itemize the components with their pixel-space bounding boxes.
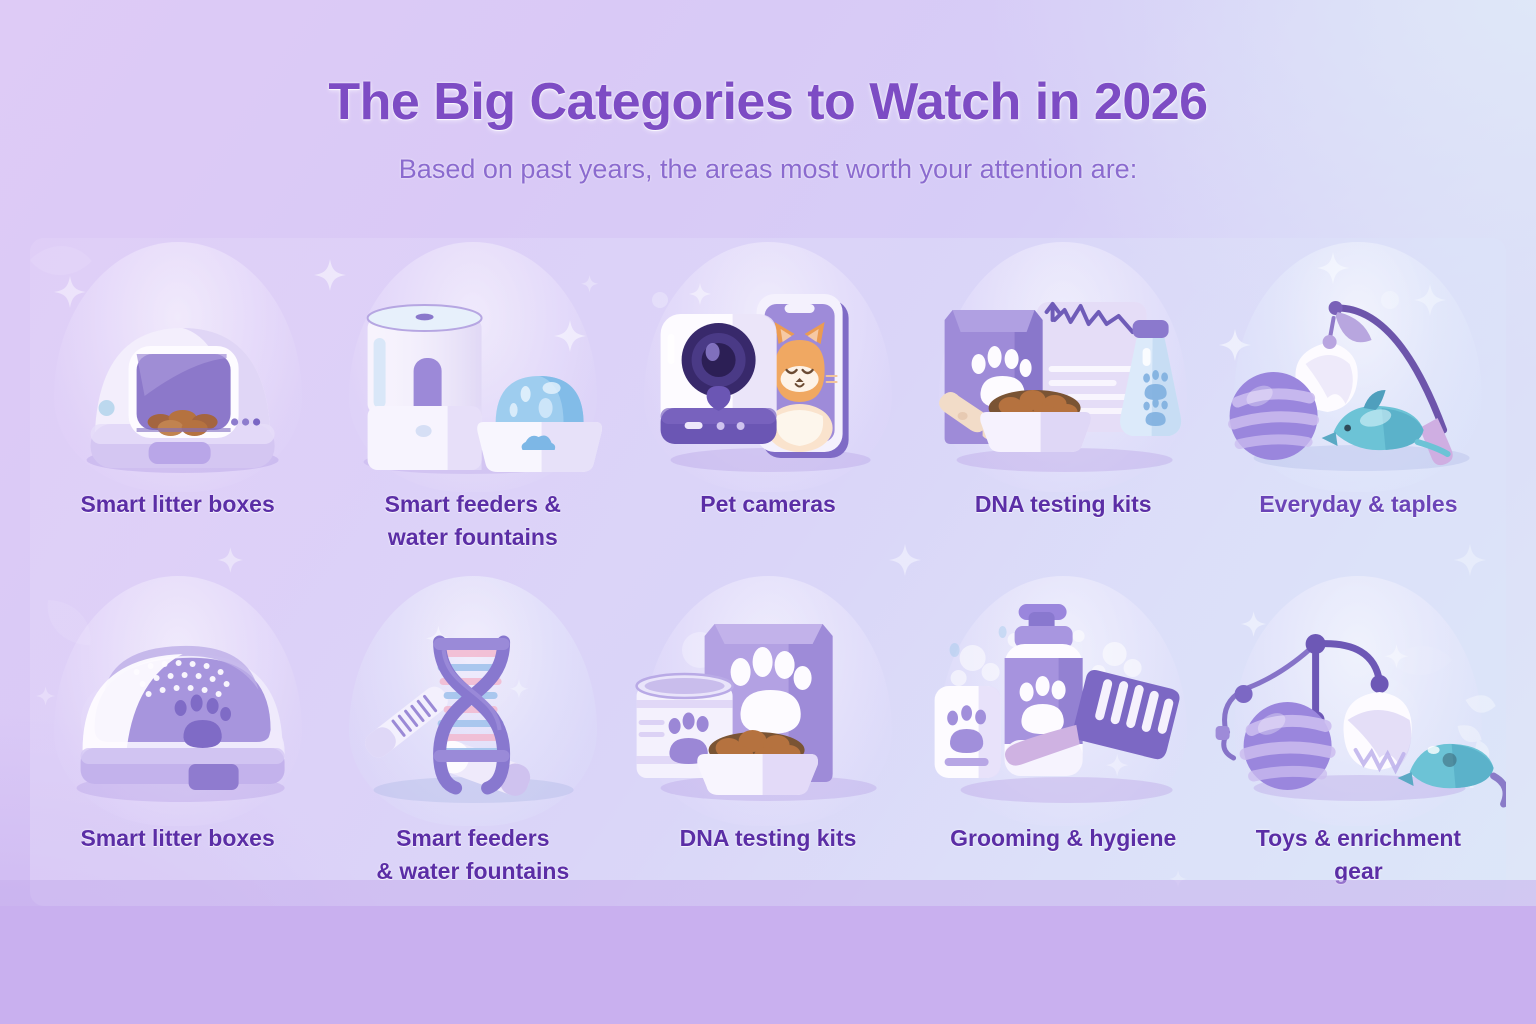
category-cell-dna-testing-kits[interactable]: DNA testing kits [916,238,1211,572]
category-cell-smart-feeders-water-fountains[interactable]: Smart feeders & water fountains [325,238,620,572]
smart-litter-box-vented-icon [30,580,325,820]
cell-label: Smart litter boxes [34,488,321,521]
page-title: The Big Categories to Watch in 2026 [0,0,1536,132]
footer-band [0,906,1536,1024]
cell-label: Everyday & taples [1215,488,1502,521]
cell-label: DNA testing kits [920,488,1207,521]
category-row-2: Smart litter boxes [30,572,1506,906]
cell-label: Grooming & hygiene [920,822,1207,855]
category-cell-smart-litter-boxes-2[interactable]: Smart litter boxes [30,572,325,906]
soap-bottle-comb-icon [916,580,1211,820]
cell-label: Smart feeders & water fountains [329,488,616,553]
cell-label: Toys & enrichment gear [1215,822,1502,887]
category-cell-toys-enrichment-gear[interactable]: Toys & enrichment gear [1211,572,1506,906]
dna-helix-swab-icon [325,580,620,820]
food-bag-bowl-bottle-icon [916,246,1211,486]
smart-litter-box-dome-icon [30,246,325,486]
header: The Big Categories to Watch in 2026 Base… [0,0,1536,185]
category-cell-grooming-hygiene[interactable]: Grooming & hygiene [916,572,1211,906]
can-bag-bowl-icon [620,580,915,820]
ball-mouse-wand-icon [1211,246,1506,486]
pet-camera-phone-icon [620,246,915,486]
category-cell-everyday-staples[interactable]: Everyday & taples [1211,238,1506,572]
category-cell-dna-testing-kits-2[interactable]: DNA testing kits [620,572,915,906]
cell-label: Smart feeders & water fountains [329,822,616,887]
page-subtitle: Based on past years, the areas most wort… [0,132,1536,185]
categories-panel: Smart litter boxes [30,238,1506,906]
cell-label: Pet cameras [624,488,911,521]
ball-wand-mouse-icon [1211,580,1506,820]
category-cell-smart-litter-boxes[interactable]: Smart litter boxes [30,238,325,572]
category-row-1: Smart litter boxes [30,238,1506,572]
cell-label: DNA testing kits [624,822,911,855]
infographic-canvas: The Big Categories to Watch in 2026 Base… [0,0,1536,1024]
cell-label: Smart litter boxes [34,822,321,855]
category-cell-smart-feeders-water-fountains-2[interactable]: Smart feeders & water fountains [325,572,620,906]
category-cell-pet-cameras[interactable]: Pet cameras [620,238,915,572]
feeder-and-fountain-icon [325,246,620,486]
